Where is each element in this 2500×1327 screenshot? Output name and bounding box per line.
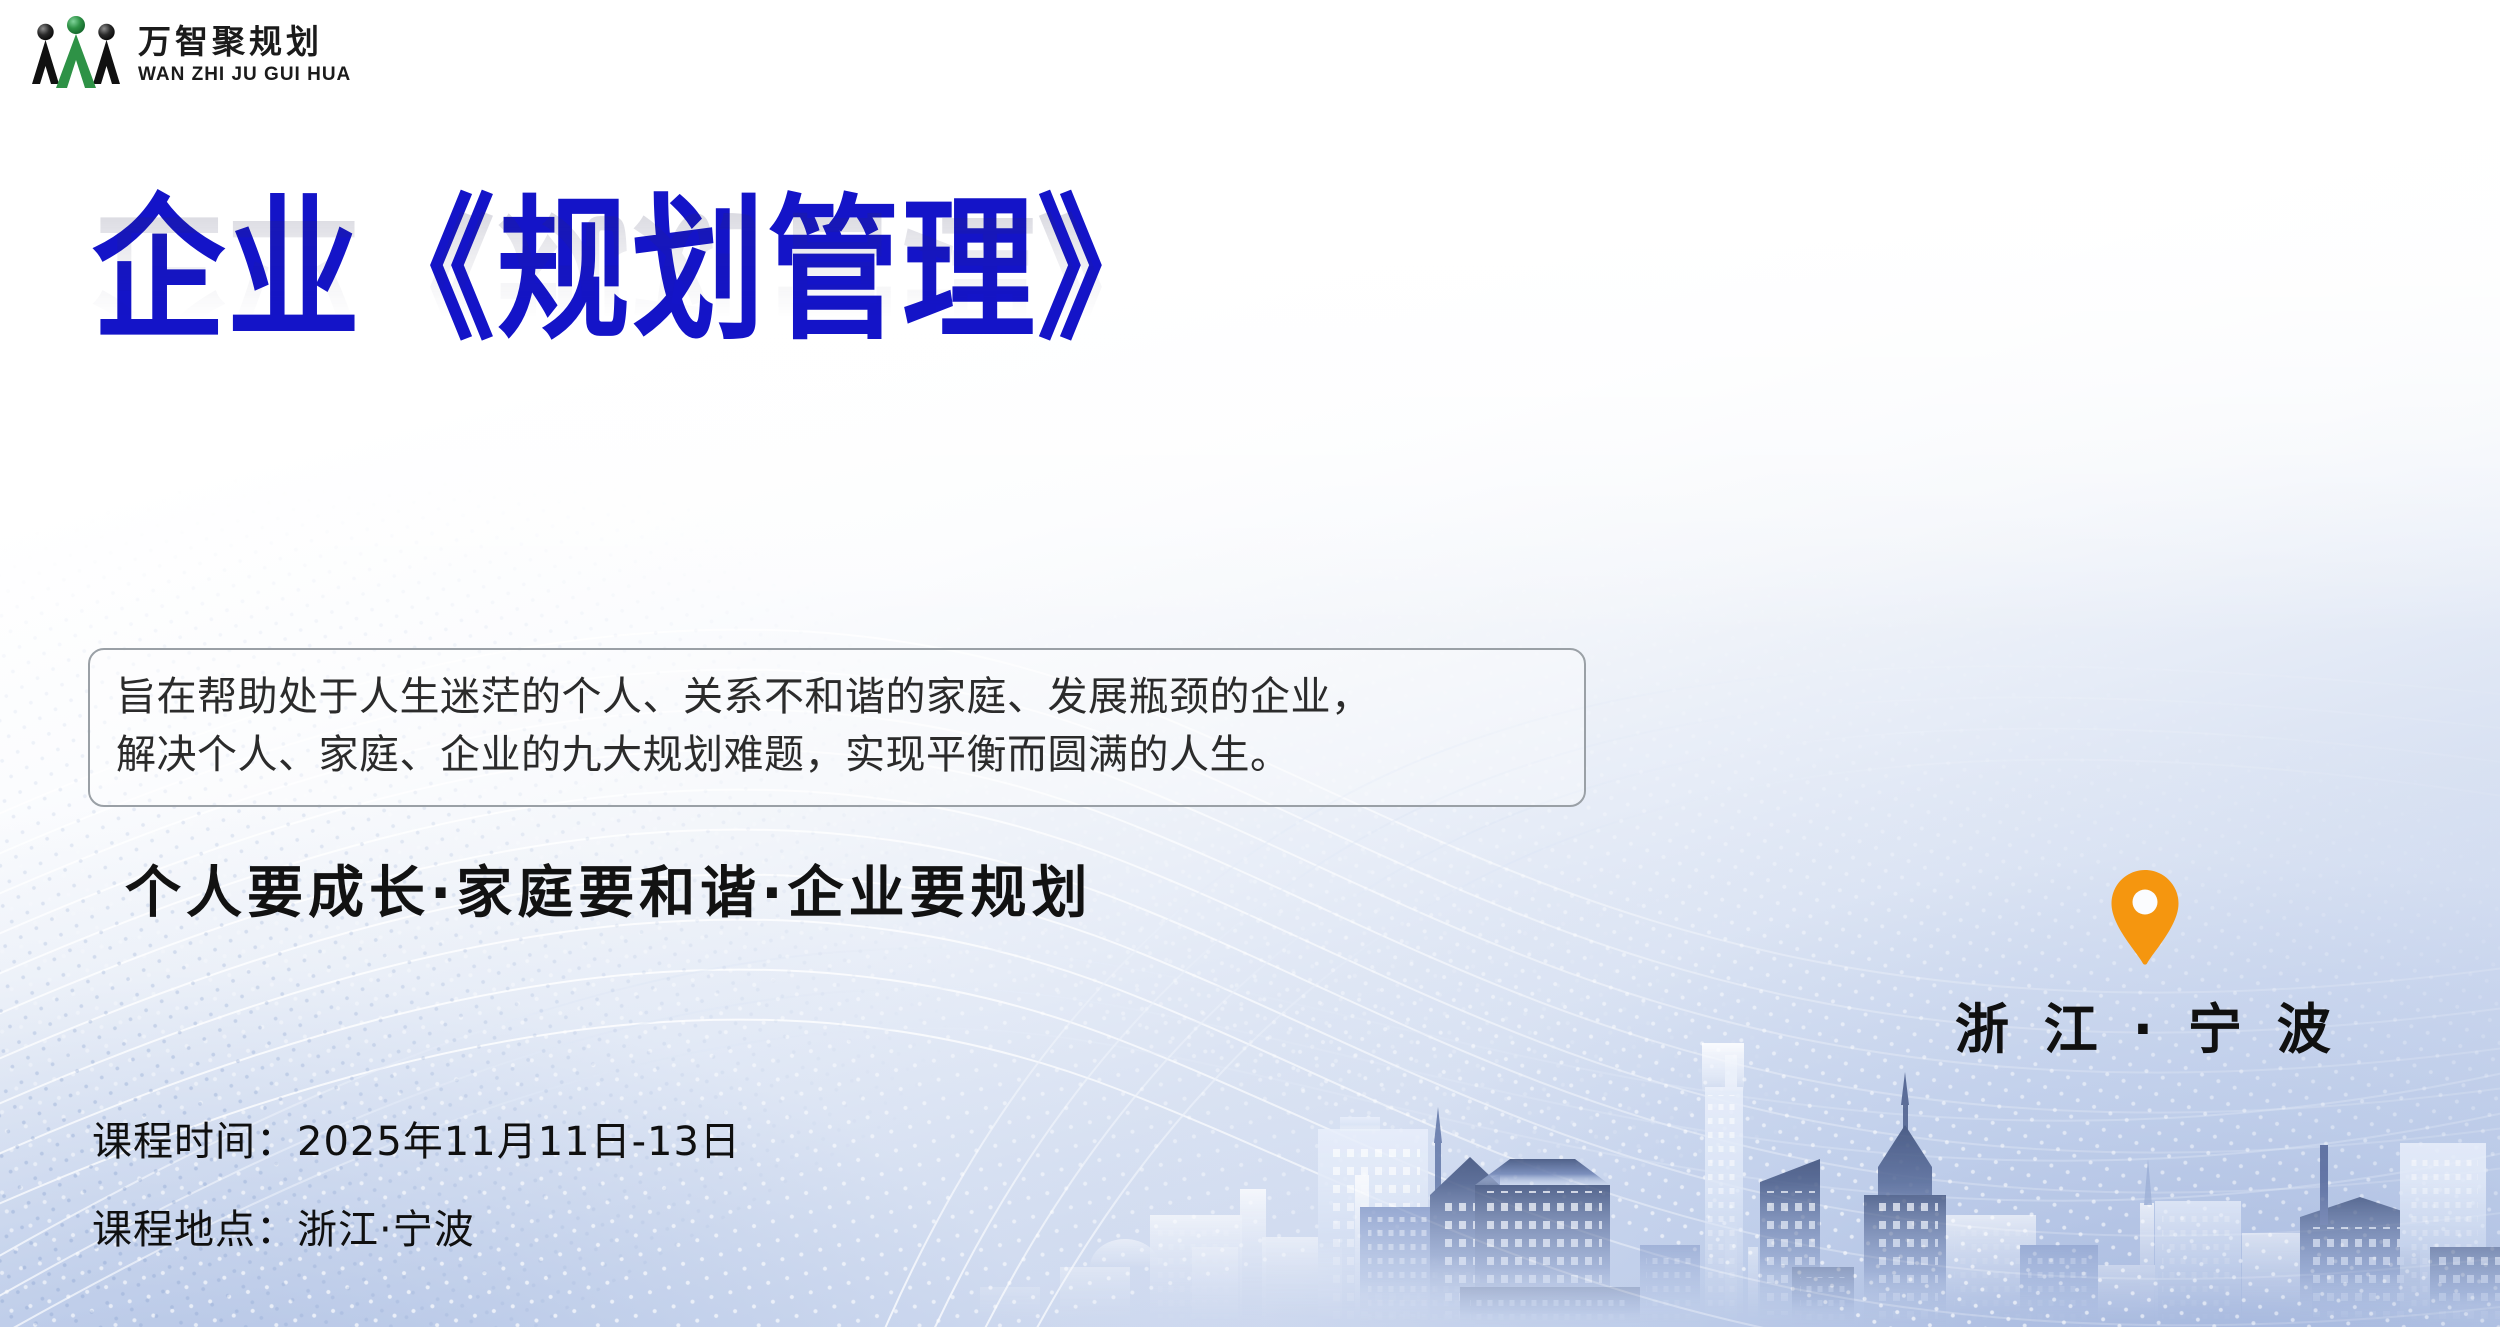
three-people-logo-icon	[28, 14, 124, 95]
description-line-1: 旨在帮助处于人生迷茫的个人、关系不和谐的家庭、发展瓶颈的企业，	[116, 668, 1558, 726]
map-pin-icon	[1955, 868, 2335, 971]
location-name: 浙 江 · 宁 波	[1955, 985, 2335, 1064]
course-place: 课程地点：浙江·宁波	[92, 1210, 741, 1250]
course-time: 课程时间：2025年11月11日-13日	[92, 1122, 741, 1162]
brand-name-pinyin: WAN ZHI JU GUI HUA	[138, 65, 351, 84]
course-info: 课程时间：2025年11月11日-13日 课程地点：浙江·宁波	[92, 1122, 741, 1250]
tagline: 个人要成长·家庭要和谐·企业要规划	[125, 848, 1093, 929]
description-line-2: 解决个人、家庭、企业的九大规划难题，实现平衡而圆满的人生。	[116, 726, 1558, 784]
page-title: 企业《规划管理》	[92, 185, 1172, 359]
brand-logo[interactable]: 万智聚规划 WAN ZHI JU GUI HUA	[28, 14, 351, 95]
description-box: 旨在帮助处于人生迷茫的个人、关系不和谐的家庭、发展瓶颈的企业， 解决个人、家庭、…	[88, 648, 1586, 807]
location-block: 浙 江 · 宁 波	[1955, 868, 2335, 1064]
headline-block: 企业《规划管理》 企业《规划管理》	[92, 185, 1172, 334]
event-poster: 万智聚规划 WAN ZHI JU GUI HUA 企业《规划管理》 企业《规划管…	[0, 0, 2500, 1327]
brand-name-cn: 万智聚规划	[138, 25, 351, 58]
